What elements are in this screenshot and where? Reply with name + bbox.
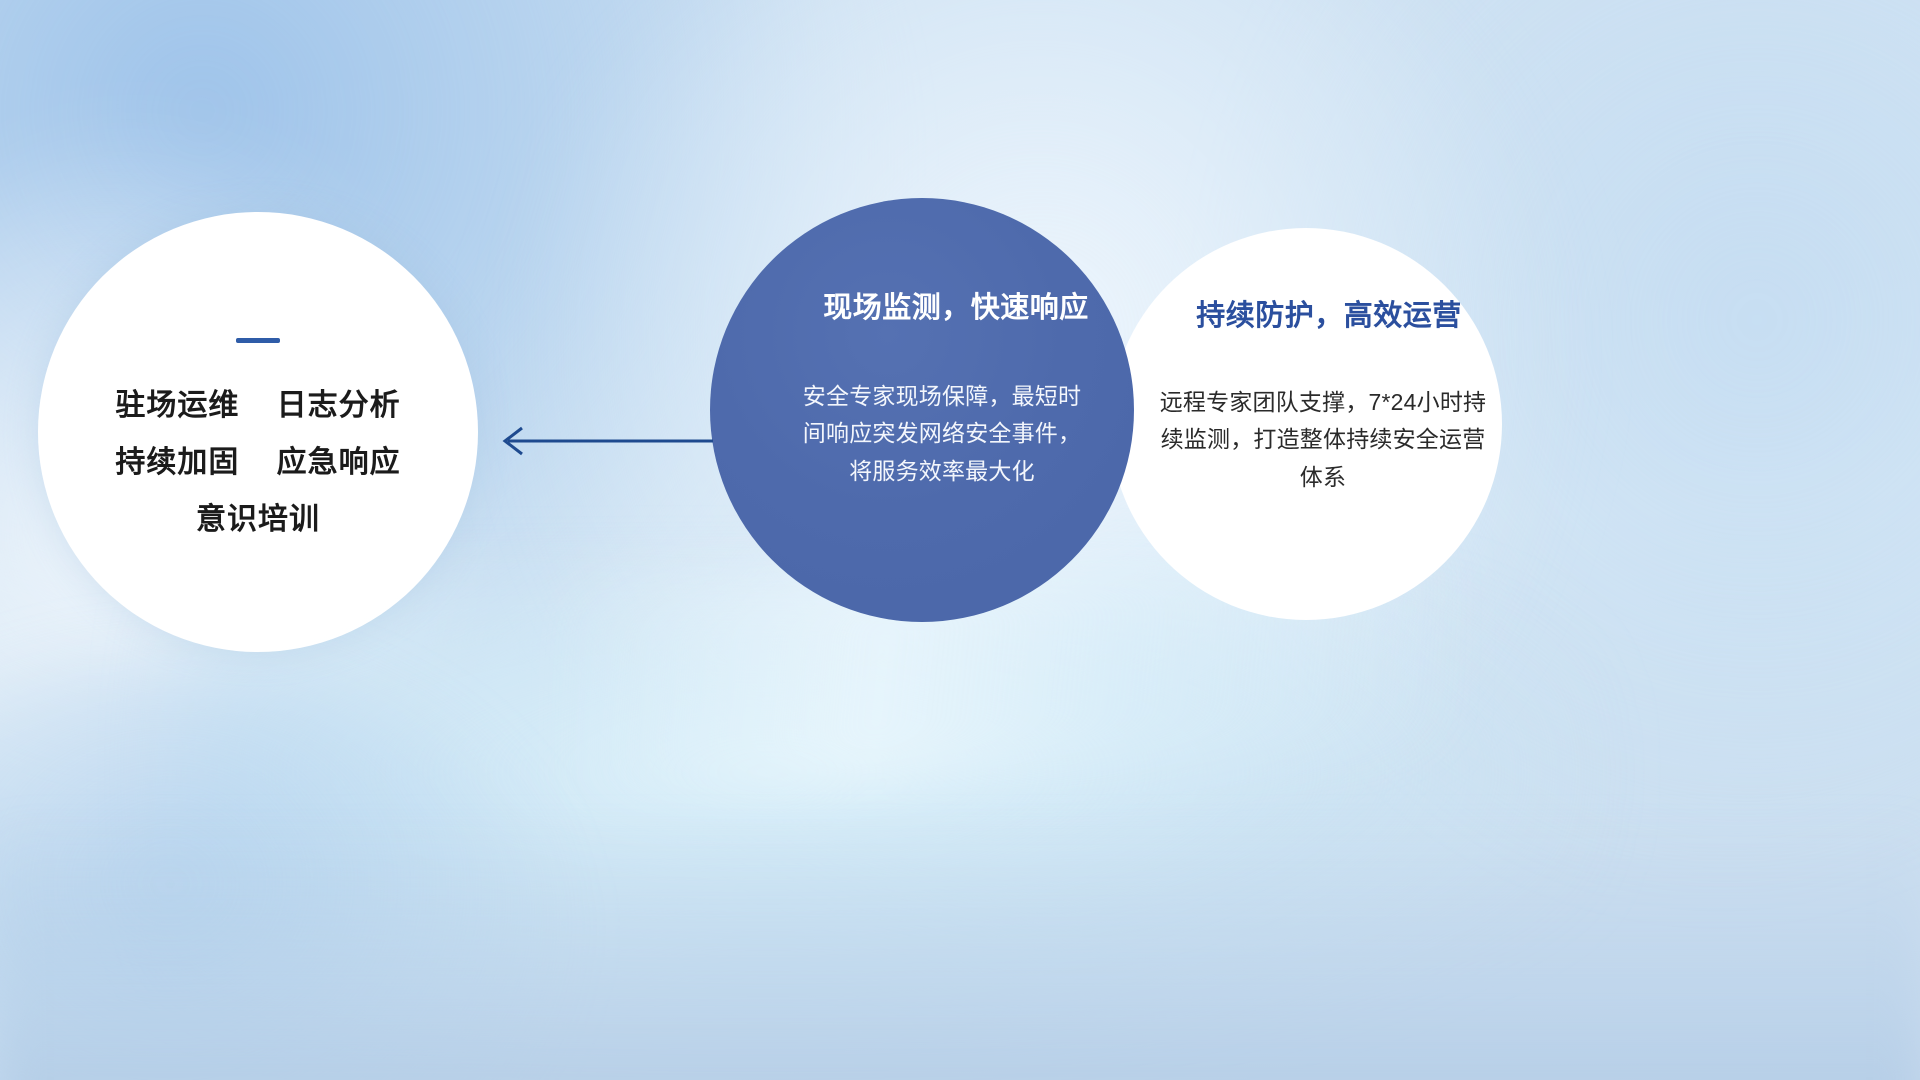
circle-body-text: 安全专家现场保障，最短时间响应突发网络安全事件，将服务效率最大化 <box>799 378 1085 490</box>
onsite-monitoring-circle: 现场监测，快速响应 安全专家现场保障，最短时间响应突发网络安全事件，将服务效率最… <box>710 198 1134 622</box>
capabilities-circle: 驻场运维 日志分析 持续加固 应急响应 意识培训 <box>38 212 478 652</box>
capabilities-list: 驻场运维 日志分析 持续加固 应急响应 意识培训 <box>115 391 400 535</box>
arrow-pointing-left <box>488 424 713 458</box>
list-item: 持续加固 应急响应 <box>115 448 400 478</box>
circle-title: 持续防护，高效运营 <box>1196 292 1462 334</box>
list-item: 意识培训 <box>115 505 400 535</box>
circle-body-text: 远程专家团队支撑，7*24小时持续监测，打造整体持续安全运营体系 <box>1158 384 1488 496</box>
circle-title: 现场监测，快速响应 <box>823 284 1089 326</box>
background-bottom-shade <box>0 820 1920 1080</box>
divider-dash-icon <box>236 338 280 343</box>
list-item: 驻场运维 日志分析 <box>115 391 400 421</box>
continuous-operations-circle: 持续防护，高效运营 远程专家团队支撑，7*24小时持续监测，打造整体持续安全运营… <box>1110 228 1502 620</box>
